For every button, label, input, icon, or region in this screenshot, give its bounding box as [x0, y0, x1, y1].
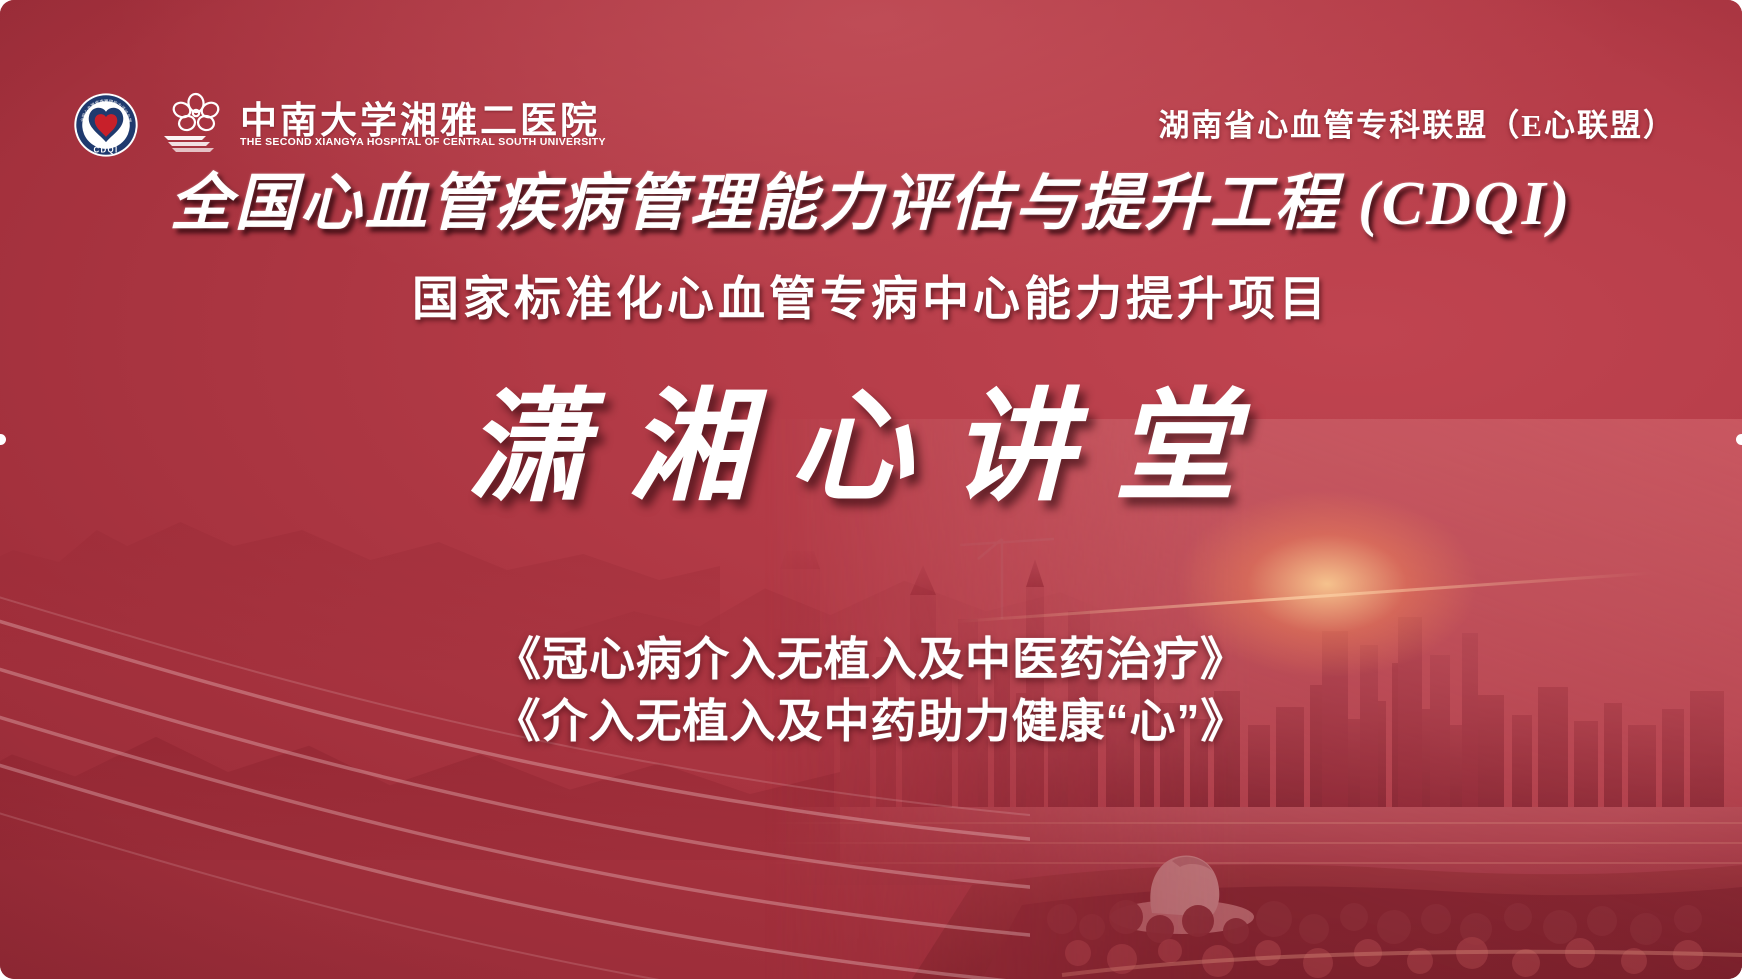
conference-poster: CDQI 全国心血管疾病管理能力评估与提升工程 [0, 0, 1742, 979]
hospital-name-en: THE SECOND XIANGYA HOSPITAL OF CENTRAL S… [240, 136, 606, 148]
lecture-title-list: 《冠心病介入无植入及中医药治疗》 《介入无植入及中药助力健康“心”》 [0, 628, 1742, 752]
alliance-label: 湖南省心血管专科联盟（E心联盟） [1158, 100, 1676, 145]
lotus-flower-icon [162, 90, 234, 152]
calligraphy-title: 潇湘心讲堂 [0, 348, 1742, 525]
poster-header: CDQI 全国心血管疾病管理能力评估与提升工程 [0, 40, 1742, 132]
main-title: 全国心血管疾病管理能力评估与提升工程 (CDQI) [0, 152, 1742, 242]
lecture-title: 《介入无植入及中药助力健康“心”》 [0, 690, 1742, 752]
lecture-title: 《冠心病介入无植入及中医药治疗》 [0, 628, 1742, 690]
cdqi-heart-badge-icon: CDQI 全国心血管疾病管理能力评估与提升工程 [73, 92, 139, 158]
hospital-logo: 中南大学湘雅二医院 THE SECOND XIANGYA HOSPITAL OF… [162, 88, 542, 160]
subtitle: 国家标准化心血管专病中心能力提升项目 [0, 260, 1742, 329]
